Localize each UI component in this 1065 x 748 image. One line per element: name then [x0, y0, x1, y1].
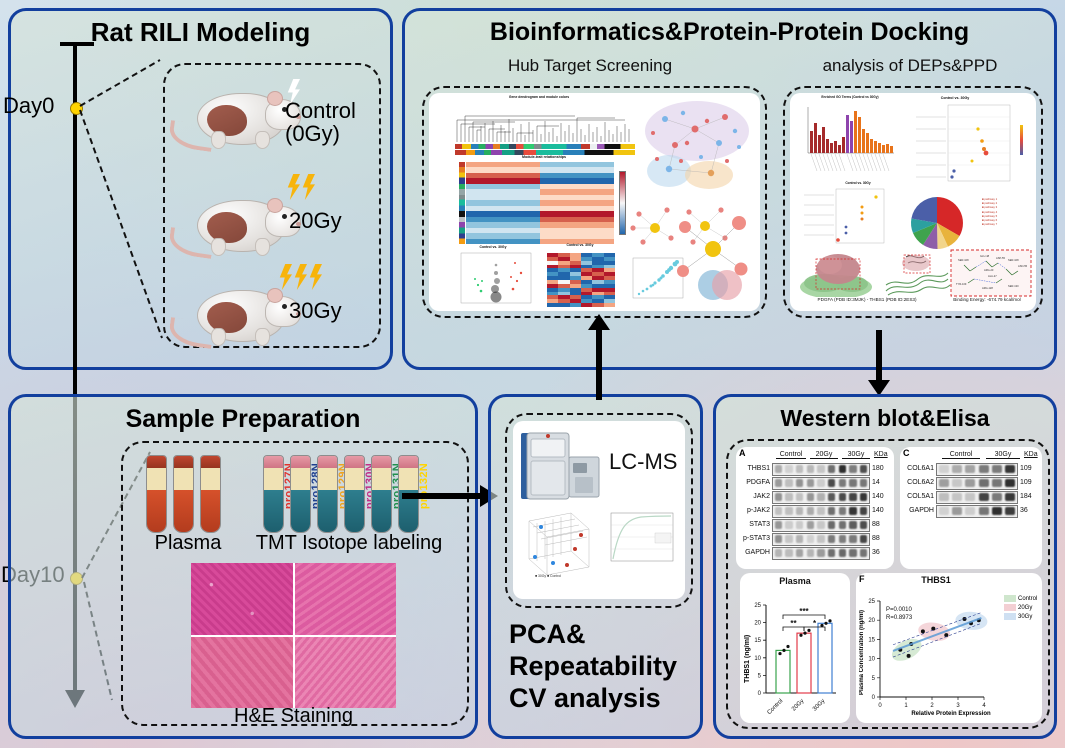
elisa-bar-chart: Plasma THBS1 (ng/ml) 0510152025Control20… — [740, 573, 850, 723]
tmt-tube-pro129N — [317, 455, 338, 533]
blot-band-signal — [828, 479, 836, 487]
blot-row-label: GAPDH — [736, 549, 770, 556]
svg-text:P=0.0010: P=0.0010 — [886, 607, 913, 613]
lcms-instrument-icon — [517, 427, 607, 505]
dose-label-control-text: Control — [285, 98, 356, 123]
svg-text:15: 15 — [754, 638, 761, 644]
legend-swatch — [1004, 613, 1016, 620]
svg-text:30Gy: 30Gy — [812, 698, 826, 712]
elisa-bar-20Gy — [797, 633, 811, 693]
blot-band-signal — [849, 465, 857, 473]
blot-band-signal — [979, 493, 989, 501]
subtitle-hub-target-screening: Hub Target Screening — [425, 56, 755, 76]
volcano-title: Control vs. 30Gy — [453, 245, 533, 249]
rat-illustration-20gy — [181, 186, 301, 260]
svg-text:ARG-128: ARG-128 — [982, 286, 993, 290]
blot-band-signal — [965, 493, 975, 501]
blot-band-signal — [992, 493, 1002, 501]
blot-band — [936, 491, 1018, 504]
lcms-image-area: LC-MS ■ 30Gy ■ C — [513, 421, 685, 599]
blot-band-signal — [952, 465, 962, 473]
module-trait-title: Module-trait relationships — [469, 155, 619, 159]
tube-serum-layer — [147, 468, 166, 490]
deps-ppd-collage: Enriched GO Terms (Control vs 30Gy) — [790, 93, 1036, 311]
blot-band — [772, 477, 870, 490]
tube-serum-layer — [345, 468, 364, 490]
bubble-plot-title: Control vs. 30Gy — [920, 96, 990, 100]
blot-band-signal — [1005, 465, 1015, 473]
tmt-tube-label: pro132N — [418, 463, 430, 509]
tube-cell-layer — [147, 490, 166, 532]
he-staining-grid — [191, 563, 396, 708]
blot-band-signal — [796, 549, 804, 557]
svg-text:Control: Control — [766, 698, 784, 716]
docking-residue-closeup: SER-108GLU-48ASP-55 SER-108ASN-55ARG-20 … — [950, 249, 1032, 297]
svg-text:5: 5 — [758, 673, 762, 679]
tube-cap — [318, 456, 337, 468]
module-trait-row-colors — [459, 162, 465, 244]
legend-swatch — [1004, 604, 1016, 611]
blot-band-signal — [839, 549, 847, 557]
tmt-tube-pro130N — [344, 455, 365, 533]
blot-band — [772, 519, 870, 532]
rat-leg — [255, 238, 270, 256]
tube-serum-layer — [399, 468, 418, 490]
dose-label-30gy: 30Gy — [289, 299, 342, 322]
blot-row-kda: 184 — [1020, 493, 1032, 500]
panel-rat-rili-modeling: Rat RILI Modeling Control (0Gy) — [8, 8, 393, 370]
core-target-network — [667, 213, 759, 283]
wgcna-dendrogram — [455, 102, 635, 148]
blot-band-signal — [1005, 479, 1015, 487]
panel-bioinformatics: Bioinformatics&Protein-Protein Docking H… — [402, 8, 1057, 370]
svg-text:0: 0 — [872, 695, 876, 701]
blot-band — [772, 491, 870, 504]
rat-ear — [267, 288, 283, 303]
rat-leg — [211, 328, 226, 346]
blot-band-signal — [839, 465, 847, 473]
svg-text:25: 25 — [754, 603, 761, 609]
blot-band-signal — [849, 493, 857, 501]
blot-band-signal — [939, 507, 949, 515]
blot-band-signal — [1005, 507, 1015, 515]
blot-band-signal — [860, 465, 868, 473]
blot-band-signal — [828, 535, 836, 543]
blot-band-signal — [828, 521, 836, 529]
blot-row-kda: 109 — [1020, 465, 1032, 472]
svg-text:■ 30Gy ■ Control: ■ 30Gy ■ Control — [535, 574, 561, 578]
blot-band-signal — [860, 507, 868, 515]
blot-band-signal — [860, 549, 868, 557]
lcms-caption-line-3: CV analysis — [509, 683, 677, 715]
svg-text:R=0.8973: R=0.8973 — [886, 615, 913, 621]
blot-row-label: THBS1 — [736, 465, 770, 472]
svg-text:4: 4 — [982, 703, 986, 709]
blot-row-label: COL5A1 — [900, 493, 934, 500]
svg-text:ASP-55: ASP-55 — [996, 256, 1005, 260]
blot-band — [772, 547, 870, 560]
tube-cap — [372, 456, 391, 468]
bubble-plot-2-title: Control vs. 30Gy — [828, 181, 888, 185]
tube-serum-layer — [201, 468, 220, 490]
blot-band-signal — [807, 493, 815, 501]
blot-band — [936, 477, 1018, 490]
tube-cap — [201, 456, 220, 468]
svg-text:1: 1 — [904, 703, 908, 709]
docking-structure-ribbon — [880, 251, 952, 297]
go-bubble-plot-2 — [796, 187, 904, 249]
rat-eye — [282, 214, 287, 219]
blot-band-signal — [807, 465, 815, 473]
svg-text:ASN-55: ASN-55 — [1018, 264, 1028, 268]
svg-text:10: 10 — [754, 656, 761, 662]
blot-band-signal — [939, 479, 949, 487]
svg-text:5: 5 — [872, 676, 876, 682]
docking-caption-left: PDGFA (PDB ID:3MJK) - THBS1 (PDB ID:2ES3… — [792, 297, 942, 302]
blot-a-group-20gy: 20Gy — [810, 451, 838, 459]
elisa-plot-area: 0510152025Control20Gy30Gy****** — [740, 589, 850, 723]
blot-band-signal — [860, 493, 868, 501]
tube-cap — [174, 456, 193, 468]
blot-band-signal — [817, 465, 825, 473]
blot-band-signal — [992, 507, 1002, 515]
timeline-dot-day0 — [70, 102, 83, 115]
tube-serum-layer — [264, 468, 283, 490]
corr-legend-item: Control — [1004, 595, 1037, 602]
svg-text:ALA-27: ALA-27 — [988, 274, 997, 278]
blot-band-signal — [849, 479, 857, 487]
blot-band-signal — [785, 493, 793, 501]
blot-band-signal — [849, 521, 857, 529]
blot-row-label: p-STAT3 — [736, 535, 770, 542]
svg-text:10: 10 — [868, 657, 875, 663]
cluster-heatmap — [547, 253, 615, 307]
blot-a-kda-header: KDa — [874, 451, 888, 458]
blot-band-signal — [775, 493, 783, 501]
blot-band-signal — [817, 479, 825, 487]
blot-band-signal — [817, 521, 825, 529]
blot-band-signal — [775, 507, 783, 515]
blot-band-signal — [828, 465, 836, 473]
svg-text:15: 15 — [868, 637, 875, 643]
cluster-heatmap-title: Control vs. 30Gy — [545, 243, 615, 247]
svg-text:20: 20 — [754, 621, 761, 627]
svg-text:0: 0 — [878, 703, 882, 709]
blot-band-signal — [860, 521, 868, 529]
panel-sample-preparation: Sample Preparation Plasma pro127Npro128N… — [8, 394, 478, 739]
tmt-tube-pro127N — [263, 455, 284, 533]
tube-cap — [399, 456, 418, 468]
tube-cell-layer — [291, 490, 310, 532]
blot-a-group-control: Control — [776, 451, 806, 459]
panel-letter-f: F — [859, 574, 865, 584]
svg-text:ARG-20: ARG-20 — [984, 268, 994, 272]
panel-validation: Western blot&Elisa A Control 20Gy 30Gy K… — [713, 394, 1057, 739]
blot-band-signal — [796, 507, 804, 515]
radiation-bolt-icon-20gy — [287, 174, 317, 200]
blot-band-signal — [828, 507, 836, 515]
blot-row-kda: 109 — [1020, 479, 1032, 486]
blot-band-signal — [785, 465, 793, 473]
western-blot-panel-a: A Control 20Gy 30Gy KDa THBS1180PDGFA14J… — [736, 447, 894, 569]
rat-leg — [255, 328, 270, 346]
blot-c-kda-header: KDa — [1024, 451, 1038, 458]
rat-leg — [211, 238, 226, 256]
volcano-plot — [451, 251, 537, 309]
corr-legend: Control20Gy30Gy — [1004, 595, 1037, 622]
graphical-abstract: Rat RILI Modeling Control (0Gy) — [0, 0, 1065, 748]
svg-text:SER-108: SER-108 — [1008, 258, 1019, 262]
svg-text:20: 20 — [868, 618, 875, 624]
elisa-bar-30Gy — [818, 623, 832, 693]
go-enrichment-barchart — [798, 103, 898, 175]
blot-band-signal — [796, 465, 804, 473]
legend-swatch — [1004, 595, 1016, 602]
he-image-20gy — [295, 563, 397, 635]
blot-band-signal — [775, 549, 783, 557]
tube-serum-layer — [174, 468, 193, 490]
blot-band — [936, 505, 1018, 518]
svg-text:TYR-109: TYR-109 — [956, 282, 967, 286]
he-image-30gy-2 — [295, 637, 397, 709]
lcms-caption-line-2: Repeatability — [509, 651, 677, 683]
blot-row-label: COL6A1 — [900, 465, 934, 472]
blot-band-signal — [860, 479, 868, 487]
docking-structure-surface — [794, 251, 878, 297]
blot-band-signal — [839, 507, 847, 515]
blot-band-signal — [939, 465, 949, 473]
dendrogram-module-colorbar — [455, 144, 635, 149]
blot-band-signal — [817, 507, 825, 515]
blot-band-signal — [952, 479, 962, 487]
svg-text:**: ** — [790, 619, 797, 628]
blot-row-label: p-JAK2 — [736, 507, 770, 514]
blot-row-label: GAPDH — [900, 507, 934, 514]
blot-band-signal — [939, 493, 949, 501]
svg-text:3: 3 — [956, 703, 960, 709]
corr-x-label: Relative Protein Expression — [876, 711, 1026, 717]
blot-band-signal — [849, 507, 857, 515]
blot-row-kda: 88 — [872, 521, 880, 528]
he-staining-label: H&E Staining — [186, 705, 401, 728]
panel-letter-a: A — [739, 448, 746, 458]
tube-serum-layer — [372, 468, 391, 490]
hub-screening-collage: Gene dendrogram and module colors — [429, 93, 760, 311]
he-image-30gy — [191, 637, 293, 709]
tube-cap — [291, 456, 310, 468]
blot-band-signal — [785, 549, 793, 557]
timeline-top-cap — [60, 42, 94, 46]
blot-band-signal — [775, 479, 783, 487]
blot-band-signal — [807, 549, 815, 557]
svg-text:2: 2 — [930, 703, 934, 709]
blot-band-signal — [849, 535, 857, 543]
kegg-bubble-plot — [902, 103, 1032, 189]
rat-ear — [267, 91, 283, 106]
svg-text:SER-130: SER-130 — [1008, 284, 1019, 288]
tube-serum-layer — [291, 468, 310, 490]
blot-band — [772, 463, 870, 476]
lcms-caption-line-1: PCA& — [509, 619, 677, 651]
blot-band-signal — [785, 479, 793, 487]
elisa-chart-title: Plasma — [740, 576, 850, 586]
plasma-label: Plasma — [133, 532, 243, 555]
blot-band-signal — [785, 507, 793, 515]
radiation-bolt-icon-30gy — [279, 264, 324, 290]
blot-band-signal — [785, 535, 793, 543]
blot-row-kda: 36 — [872, 549, 880, 556]
dose-label-control: Control (0Gy) — [285, 99, 356, 145]
blot-band-signal — [860, 535, 868, 543]
blot-band-signal — [828, 493, 836, 501]
go-enrichment-title: Enriched GO Terms (Control vs 30Gy) — [810, 95, 890, 99]
pca-3d-plot: ■ 30Gy ■ Control — [519, 507, 597, 579]
panel-title-validation: Western blot&Elisa — [716, 405, 1054, 432]
blot-band-signal — [775, 465, 783, 473]
blot-row-kda: 88 — [872, 535, 880, 542]
blot-band-signal — [979, 507, 989, 515]
blot-band-signal — [979, 479, 989, 487]
svg-text:SER-108: SER-108 — [958, 258, 969, 262]
tube-cap — [345, 456, 364, 468]
elisa-bar-Control — [776, 650, 790, 693]
lcms-caption: PCA& Repeatability CV analysis — [509, 619, 677, 715]
blot-band-signal — [952, 507, 962, 515]
rat-leg — [255, 131, 270, 149]
corr-legend-item: 20Gy — [1004, 604, 1037, 611]
blot-band-signal — [965, 507, 975, 515]
svg-text:0: 0 — [758, 691, 762, 697]
blot-band-signal — [979, 465, 989, 473]
tube-cap — [147, 456, 166, 468]
docking-caption-right: Binding Energy: -674.79 kcal/mol — [940, 297, 1034, 302]
plasma-tube — [200, 455, 221, 533]
blot-band-signal — [775, 521, 783, 529]
blot-band-signal — [965, 465, 975, 473]
blot-row-label: PDGFA — [736, 479, 770, 486]
blot-a-group-30gy: 30Gy — [842, 451, 870, 459]
blot-band-signal — [817, 549, 825, 557]
panel-letter-c: C — [903, 448, 910, 458]
blot-band-signal — [807, 507, 815, 515]
blot-band-signal — [839, 493, 847, 501]
panel-lcms: LC-MS ■ 30Gy ■ C — [488, 394, 703, 739]
blot-band-signal — [796, 521, 804, 529]
blot-band-signal — [965, 479, 975, 487]
rat-eye — [282, 304, 287, 309]
blot-row-label: JAK2 — [736, 493, 770, 500]
timeline-label-day0: Day0 — [3, 93, 54, 119]
blot-band — [772, 505, 870, 518]
blot-band — [936, 463, 1018, 476]
blot-band-signal — [807, 521, 815, 529]
blot-band-signal — [839, 535, 847, 543]
blot-row-kda: 140 — [872, 507, 884, 514]
svg-text:GLU-48: GLU-48 — [980, 254, 990, 258]
blot-band-signal — [839, 479, 847, 487]
blot-band-signal — [952, 493, 962, 501]
svg-text:20Gy: 20Gy — [791, 698, 805, 712]
rat-illustration-control — [181, 79, 301, 153]
rat-ear — [267, 198, 283, 213]
blot-band-signal — [839, 521, 847, 529]
dose-label-control-sub: (0Gy) — [285, 121, 340, 146]
tmt-tube-pro128N — [290, 455, 311, 533]
blot-row-kda: 180 — [872, 465, 884, 472]
blot-band-signal — [796, 493, 804, 501]
tmt-tube-pro131N — [371, 455, 392, 533]
blot-row-label: STAT3 — [736, 521, 770, 528]
blot-row-kda: 14 — [872, 479, 880, 486]
blot-band-signal — [828, 549, 836, 557]
tube-cell-layer — [372, 490, 391, 532]
blot-band-signal — [992, 465, 1002, 473]
blot-row-label: COL6A2 — [900, 479, 934, 486]
blot-band-signal — [807, 479, 815, 487]
dose-label-20gy: 20Gy — [289, 209, 342, 232]
subtitle-deps-ppd: analysis of DEPs&PPD — [775, 56, 1045, 76]
pie-legend: ■ pathway 1■ pathway 2■ pathway 3■ pathw… — [982, 197, 997, 226]
rat-leg — [211, 131, 226, 149]
lcms-label: LC-MS — [609, 449, 677, 475]
blot-row-kda: 140 — [872, 493, 884, 500]
blot-band-signal — [796, 535, 804, 543]
tmt-label: TMT Isotope labeling — [239, 532, 459, 555]
ppi-network-graph — [635, 99, 755, 199]
blot-band-signal — [775, 535, 783, 543]
he-image-control — [191, 563, 293, 635]
blot-band-signal — [807, 535, 815, 543]
blot-c-group-30gy: 30Gy — [986, 451, 1020, 459]
western-blot-panel-c: C Control 30Gy KDa COL6A1109COL6A2109COL… — [900, 447, 1042, 569]
correlation-scatter-chart: F THBS1 Plasma Concentration (ng/ml) 012… — [856, 573, 1042, 723]
module-trait-heatmap — [466, 162, 614, 244]
blot-c-group-control: Control — [942, 451, 980, 459]
corr-legend-item: 30Gy — [1004, 613, 1037, 620]
corr-chart-title: THBS1 — [876, 575, 996, 585]
dendrogram-title: Gene dendrogram and module colors — [449, 95, 629, 99]
blot-band-signal — [785, 521, 793, 529]
tube-serum-layer — [318, 468, 337, 490]
plasma-tube — [146, 455, 167, 533]
plasma-tube — [173, 455, 194, 533]
tube-cell-layer — [345, 490, 364, 532]
blot-band-signal — [817, 493, 825, 501]
blot-band-signal — [992, 479, 1002, 487]
panel-title-sample-preparation: Sample Preparation — [11, 405, 475, 434]
tube-cell-layer — [174, 490, 193, 532]
svg-text:***: *** — [799, 607, 809, 616]
blot-band-signal — [796, 479, 804, 487]
blot-band-signal — [1005, 493, 1015, 501]
blot-band-signal — [849, 549, 857, 557]
tube-cell-layer — [318, 490, 337, 532]
cv-repeatability-curve — [601, 509, 679, 575]
svg-text:25: 25 — [868, 599, 875, 605]
blot-row-kda: 36 — [1020, 507, 1028, 514]
blot-band-signal — [817, 535, 825, 543]
tube-cap — [264, 456, 283, 468]
tube-cell-layer — [264, 490, 283, 532]
tube-cell-layer — [201, 490, 220, 532]
blot-band — [772, 533, 870, 546]
panel-title-bioinformatics: Bioinformatics&Protein-Protein Docking — [405, 18, 1054, 47]
